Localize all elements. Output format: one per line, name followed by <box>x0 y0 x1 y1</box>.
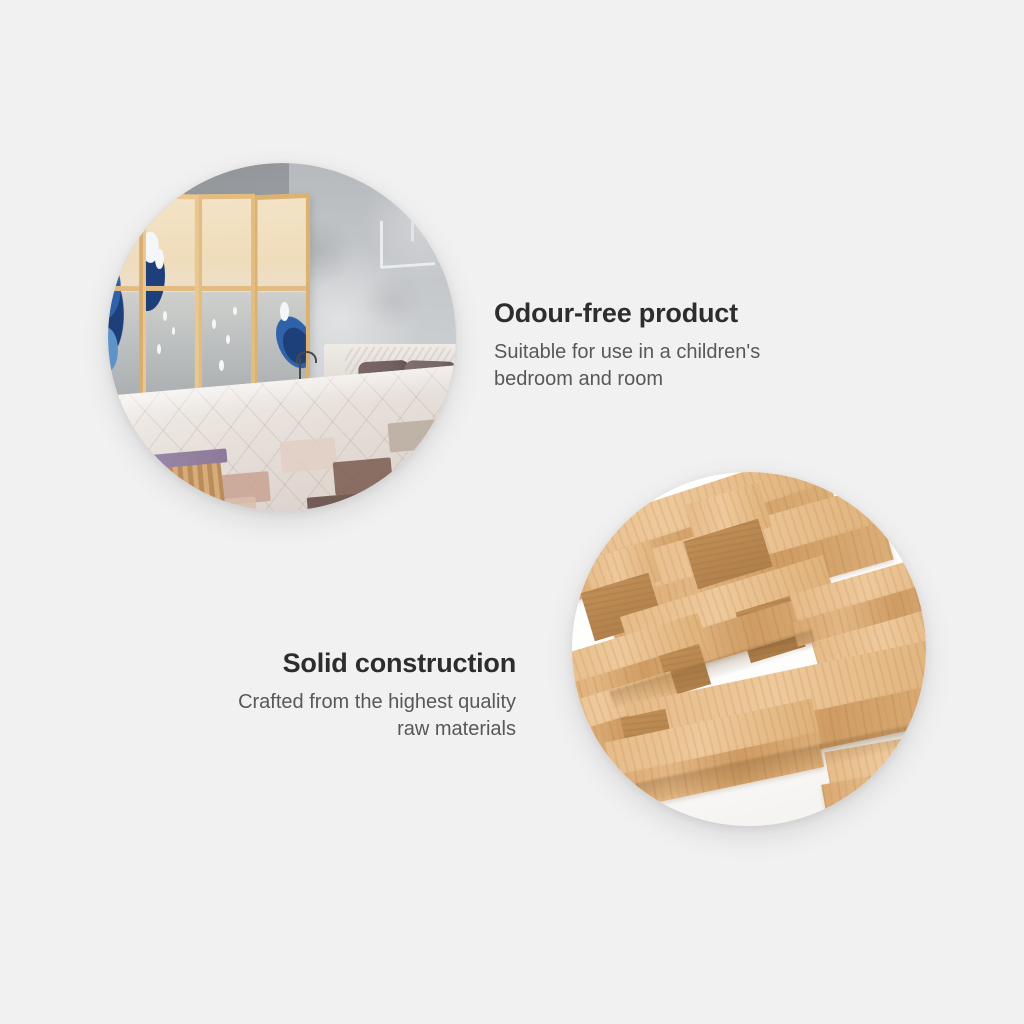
quilt-patch <box>433 439 456 477</box>
spray-dot-2 <box>225 336 229 344</box>
feature-title: Odour-free product <box>494 298 760 330</box>
spray-dot-1 <box>211 319 215 329</box>
stacked-timber-planks-photo <box>572 472 926 826</box>
divider-panel-1 <box>108 193 143 412</box>
bedroom-photo-clip <box>108 163 456 511</box>
feature-title: Solid construction <box>166 648 516 680</box>
feature-caption-solid-construction: Solid construction Crafted from the high… <box>166 648 516 742</box>
great-wave-artwork-part-1 <box>108 198 139 407</box>
timber-photo-clip <box>572 472 926 826</box>
divider-panel-3-crossbar <box>202 286 251 291</box>
feature-caption-odour-free: Odour-free product Suitable for use in a… <box>494 298 760 392</box>
great-wave-artwork-part-3 <box>202 199 251 406</box>
divider-panel-4-crossbar <box>257 286 306 291</box>
spray-dot-4 <box>218 361 223 371</box>
wall-picture-frame-edge-icon <box>411 203 445 241</box>
infographic-canvas: Odour-free product Suitable for use in a… <box>0 0 1024 1024</box>
folding-room-divider <box>108 194 310 410</box>
spray-dot-1 <box>163 311 167 321</box>
great-wave-artwork-part-2 <box>146 199 195 407</box>
spray-dot-3 <box>233 307 236 315</box>
quilt-patch <box>332 457 393 496</box>
divider-panel-2-crossbar <box>146 286 195 291</box>
feature-body: Crafted from the highest quality raw mat… <box>166 689 516 743</box>
divider-panel-1-crossbar <box>108 286 139 291</box>
divider-panel-2 <box>142 194 199 411</box>
quilt-patch <box>280 437 337 472</box>
bedroom-with-room-divider-photo <box>108 163 456 511</box>
wave-foam-1 <box>279 303 289 322</box>
feature-body: Suitable for use in a children's bedroom… <box>494 339 760 393</box>
timber-scene <box>572 472 926 826</box>
bedroom-scene <box>108 163 456 511</box>
quilt-patch <box>307 492 375 511</box>
divider-panel-3 <box>198 194 255 410</box>
